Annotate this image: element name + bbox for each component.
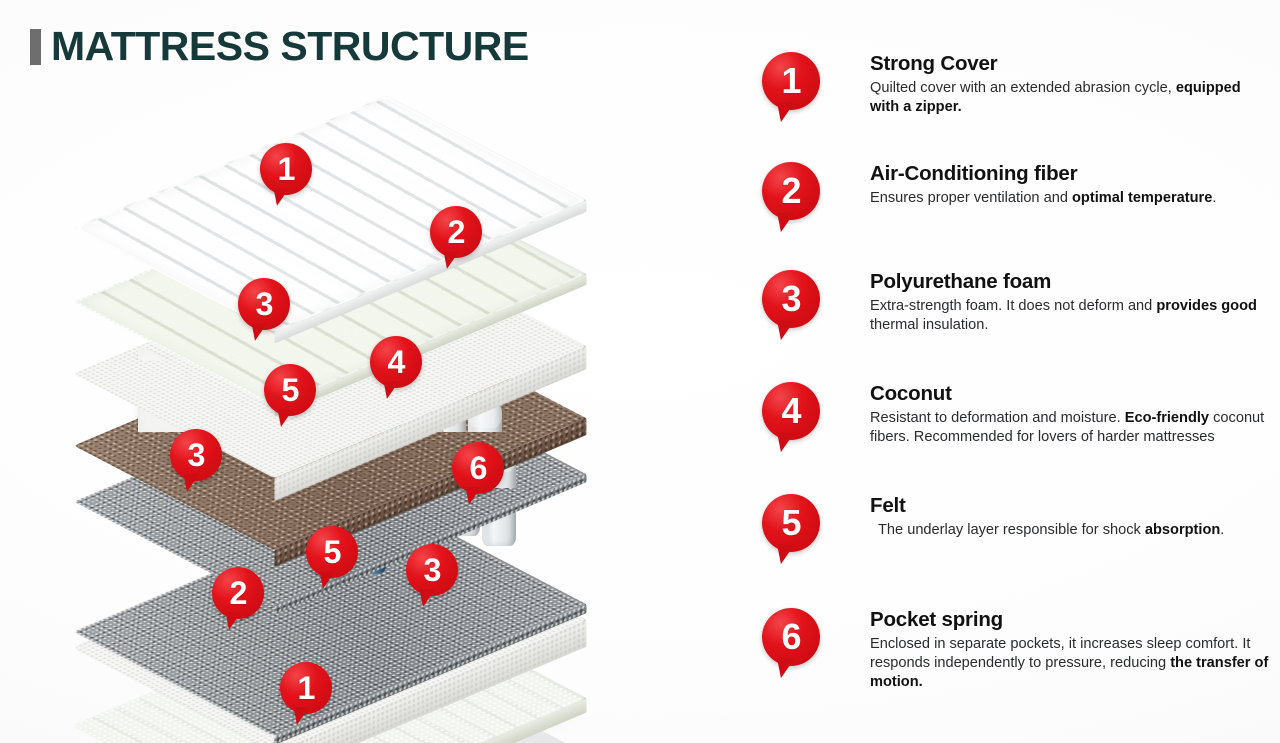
legend-desc-plain: Extra-strength foam. It does not deform … bbox=[870, 298, 1156, 314]
illustration-marker-3-2[interactable]: 3 bbox=[238, 278, 290, 330]
legend-title-5: Felt bbox=[870, 494, 1270, 518]
legend-desc-plain: Resistant to deformation and moisture. bbox=[870, 410, 1125, 426]
page-title: MATTRESS STRUCTURE bbox=[30, 26, 529, 67]
legend-pin-2[interactable]: 2 bbox=[762, 162, 820, 220]
pin-number: 1 bbox=[280, 662, 332, 714]
legend-desc-emphasis: provides good bbox=[1156, 298, 1257, 314]
legend-title-1: Strong Cover bbox=[870, 52, 1270, 76]
legend-pin-6[interactable]: 6 bbox=[762, 608, 820, 666]
legend-title-2: Air-Conditioning fiber bbox=[870, 162, 1270, 186]
legend-pin-wrap-3: 3 bbox=[762, 270, 820, 328]
pin-number: 3 bbox=[406, 544, 458, 596]
legend-desc-plain: . bbox=[1212, 190, 1216, 206]
legend-desc-emphasis: absorption bbox=[1145, 522, 1220, 538]
legend-desc-emphasis: Eco-friendly bbox=[1125, 410, 1209, 426]
legend-desc-emphasis: optimal temperature bbox=[1072, 190, 1212, 206]
legend-text-4: CoconutResistant to deformation and mois… bbox=[870, 382, 1270, 447]
illustration-marker-2-1[interactable]: 2 bbox=[430, 206, 482, 258]
pin-number: 2 bbox=[430, 206, 482, 258]
legend-pin-wrap-6: 6 bbox=[762, 608, 820, 666]
legend-desc-plain: Ensures proper ventilation and bbox=[870, 190, 1072, 206]
pin-number: 4 bbox=[762, 382, 820, 440]
legend-desc-4: Resistant to deformation and moisture. E… bbox=[870, 409, 1270, 448]
illustration-marker-1-10[interactable]: 1 bbox=[280, 662, 332, 714]
illustration-marker-3-8[interactable]: 3 bbox=[406, 544, 458, 596]
illustration-marker-3-5[interactable]: 3 bbox=[170, 429, 222, 481]
legend-text-1: Strong CoverQuilted cover with an extend… bbox=[870, 52, 1270, 117]
title-accent-bar bbox=[30, 29, 41, 65]
legend-desc-plain: thermal insulation. bbox=[870, 317, 988, 333]
pin-number: 2 bbox=[762, 162, 820, 220]
legend-pin-1[interactable]: 1 bbox=[762, 52, 820, 110]
legend-pin-5[interactable]: 5 bbox=[762, 494, 820, 552]
pin-number: 5 bbox=[306, 526, 358, 578]
pin-number: 5 bbox=[762, 494, 820, 552]
legend-desc-3: Extra-strength foam. It does not deform … bbox=[870, 297, 1270, 336]
pin-number: 1 bbox=[762, 52, 820, 110]
pin-number: 6 bbox=[452, 442, 504, 494]
pin-number: 5 bbox=[264, 364, 316, 416]
illustration-marker-5-4[interactable]: 5 bbox=[264, 364, 316, 416]
pin-number: 3 bbox=[170, 429, 222, 481]
legend-pin-4[interactable]: 4 bbox=[762, 382, 820, 440]
legend-title-3: Polyurethane foam bbox=[870, 270, 1270, 294]
pin-number: 1 bbox=[260, 143, 312, 195]
illustration-marker-1-0[interactable]: 1 bbox=[260, 143, 312, 195]
legend-pin-wrap-5: 5 bbox=[762, 494, 820, 552]
pin-number: 4 bbox=[370, 336, 422, 388]
exploded-layer-scene bbox=[120, 70, 600, 710]
legend-text-5: FeltThe underlay layer responsible for s… bbox=[870, 494, 1270, 540]
legend-title-4: Coconut bbox=[870, 382, 1270, 406]
legend-desc-plain: . bbox=[1220, 522, 1224, 538]
legend-pin-wrap-1: 1 bbox=[762, 52, 820, 110]
legend-text-2: Air-Conditioning fiberEnsures proper ven… bbox=[870, 162, 1270, 208]
legend-title-6: Pocket spring bbox=[870, 608, 1270, 632]
legend-list: 1Strong CoverQuilted cover with an exten… bbox=[762, 30, 1272, 730]
legend-desc-5: The underlay layer responsible for shock… bbox=[870, 521, 1270, 540]
title-text: MATTRESS STRUCTURE bbox=[51, 26, 529, 67]
legend-pin-wrap-2: 2 bbox=[762, 162, 820, 220]
legend-pin-wrap-4: 4 bbox=[762, 382, 820, 440]
legend-text-3: Polyurethane foamExtra-strength foam. It… bbox=[870, 270, 1270, 335]
legend-desc-1: Quilted cover with an extended abrasion … bbox=[870, 79, 1270, 118]
legend-pin-3[interactable]: 3 bbox=[762, 270, 820, 328]
legend-text-6: Pocket springEnclosed in separate pocket… bbox=[870, 608, 1270, 693]
pin-number: 6 bbox=[762, 608, 820, 666]
pin-number: 3 bbox=[762, 270, 820, 328]
legend-desc-plain: Quilted cover with an extended abrasion … bbox=[870, 80, 1176, 96]
legend-desc-plain: The underlay layer responsible for shock bbox=[878, 522, 1145, 538]
illustration-marker-4-3[interactable]: 4 bbox=[370, 336, 422, 388]
illustration-marker-2-9[interactable]: 2 bbox=[212, 567, 264, 619]
pin-number: 2 bbox=[212, 567, 264, 619]
legend-desc-6: Enclosed in separate pockets, it increas… bbox=[870, 635, 1270, 693]
mattress-illustration: 12345365321 bbox=[0, 70, 740, 743]
legend-desc-2: Ensures proper ventilation and optimal t… bbox=[870, 189, 1270, 208]
illustration-marker-5-7[interactable]: 5 bbox=[306, 526, 358, 578]
illustration-marker-6-6[interactable]: 6 bbox=[452, 442, 504, 494]
pin-number: 3 bbox=[238, 278, 290, 330]
